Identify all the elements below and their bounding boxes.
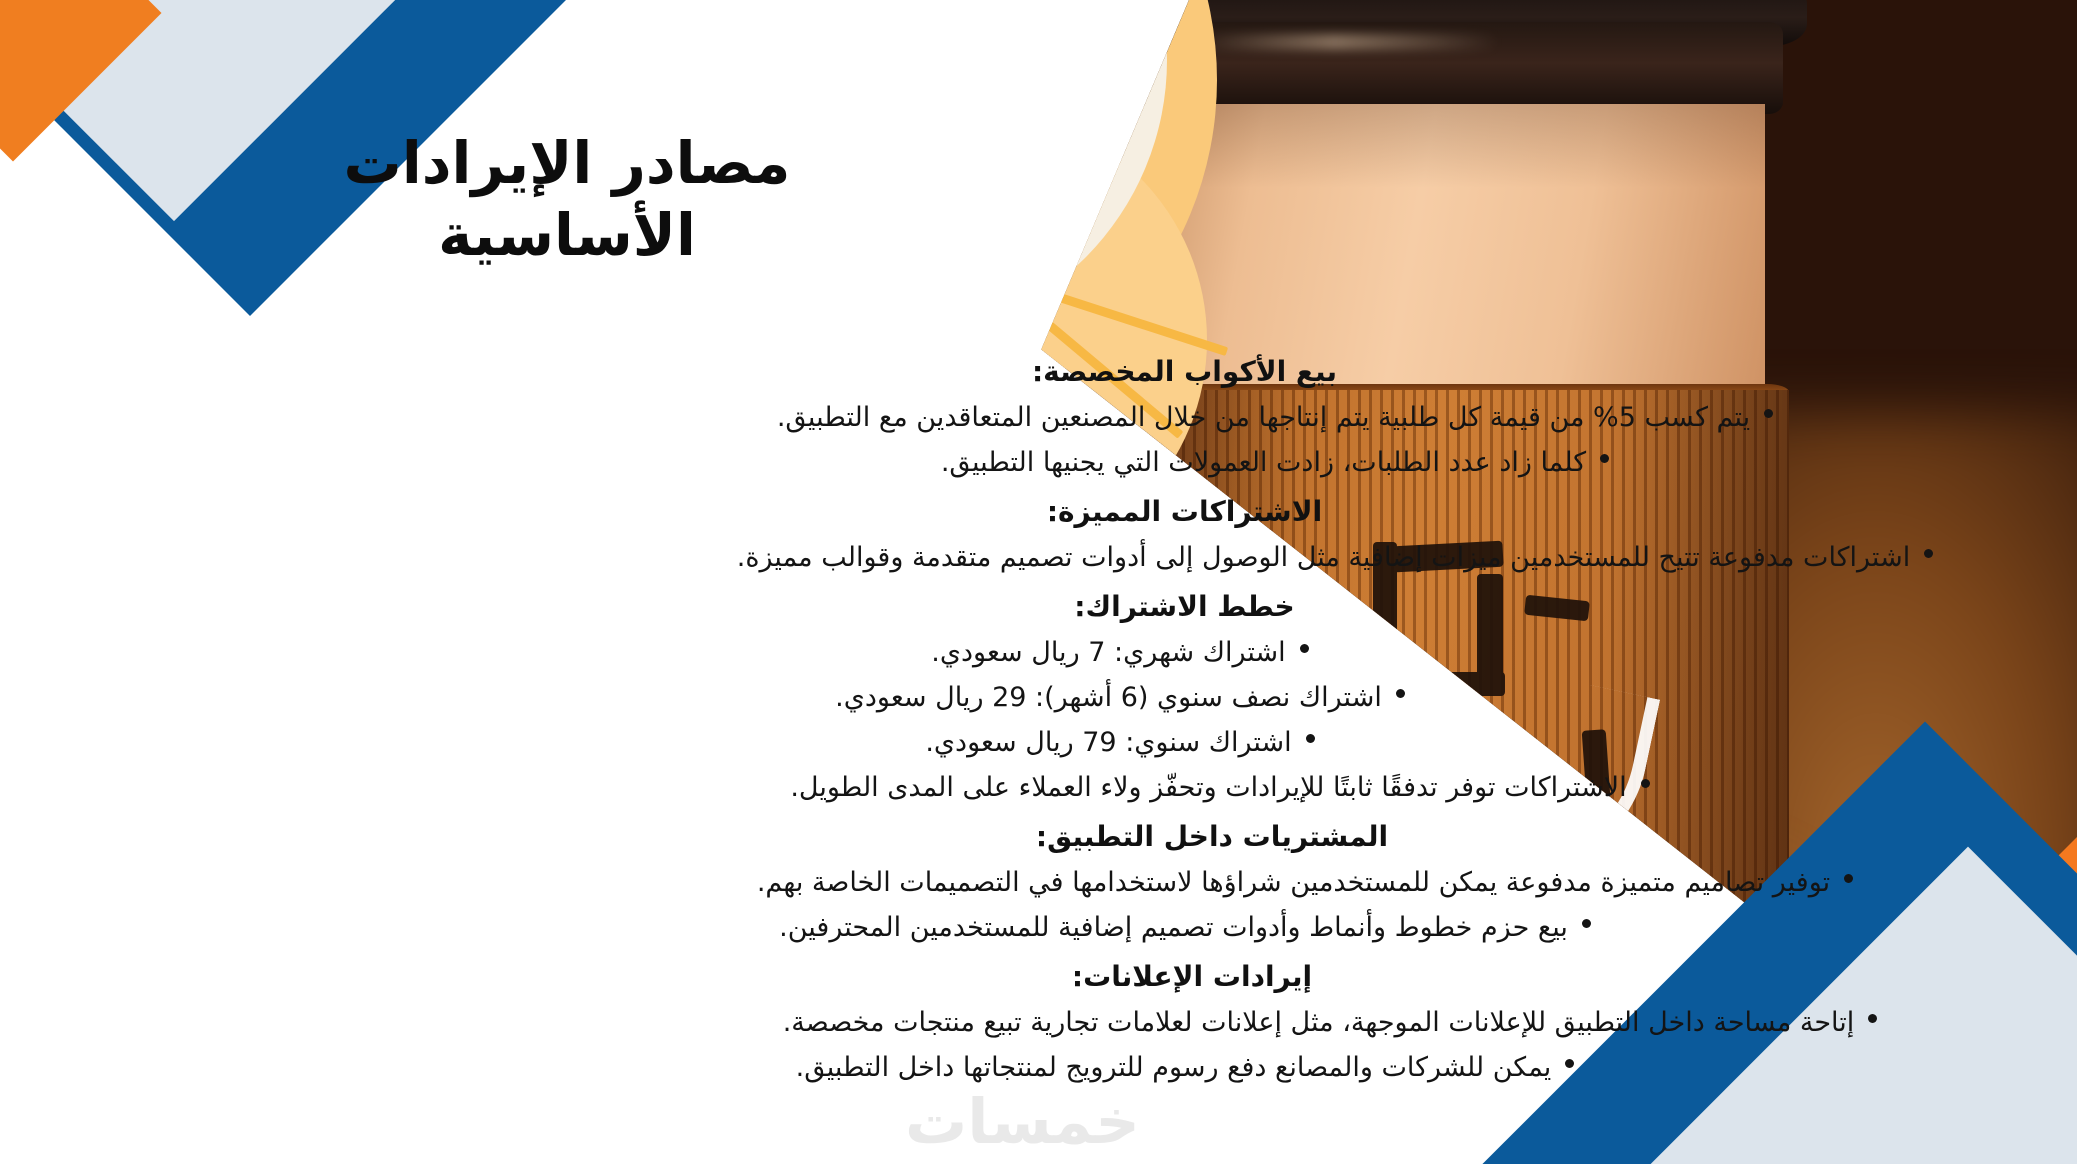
list-item-text: يمكن للشركات والمصانع دفع رسوم للترويج ل… <box>796 1052 1552 1083</box>
section-subscription-plans: خطط الاشتراك: اشتراك شهري: 7 ريال سعودي.… <box>667 586 2047 810</box>
bullet-dot-icon <box>1396 689 1405 698</box>
list-item-text: إتاحة مساحة داخل التطبيق للإعلانات الموج… <box>783 1007 1855 1038</box>
section-in-app-purchases: المشتريات داخل التطبيق: توفير تصاميم متم… <box>667 816 2047 950</box>
list-item: اشتراكات مدفوعة تتيح للمستخدمين ميزات إض… <box>667 535 2047 580</box>
list-item-text: يتم كسب 5% من قيمة كل طلبية يتم إنتاجها … <box>777 402 1750 433</box>
list-item: الاشتراكات توفر تدفقًا ثابتًا للإيرادات … <box>667 765 2047 810</box>
bullet-dot-icon <box>1582 919 1591 928</box>
bullet-dot-icon <box>1641 779 1650 788</box>
list-item-text: اشتراك شهري: 7 ريال سعودي. <box>931 637 1285 668</box>
bullet-list: توفير تصاميم متميزة مدفوعة يمكن للمستخدم… <box>667 860 2047 950</box>
bullet-list: اشتراكات مدفوعة تتيح للمستخدمين ميزات إض… <box>667 535 2047 580</box>
bullet-dot-icon <box>1868 1014 1877 1023</box>
list-item-text: توفير تصاميم متميزة مدفوعة يمكن للمستخدم… <box>757 867 1830 898</box>
list-item: يتم كسب 5% من قيمة كل طلبية يتم إنتاجها … <box>667 395 2047 440</box>
section-heading: بيع الأكواب المخصصة: <box>667 351 2047 393</box>
section-premium-subscriptions: الاشتراكات المميزة: اشتراكات مدفوعة تتيح… <box>667 491 2047 580</box>
bullet-dot-icon <box>1306 734 1315 743</box>
list-item: يمكن للشركات والمصانع دفع رسوم للترويج ل… <box>667 1045 2047 1090</box>
list-item-text: اشتراك نصف سنوي (6 أشهر): 29 ريال سعودي. <box>835 682 1382 713</box>
list-item-text: اشتراكات مدفوعة تتيح للمستخدمين ميزات إض… <box>737 542 1910 573</box>
slide-title: مصادر الإيرادات الأساسية <box>287 128 847 272</box>
section-ad-revenue: إيرادات الإعلانات: إتاحة مساحة داخل التط… <box>667 956 2047 1090</box>
list-item: بيع حزم خطوط وأنماط وأدوات تصميم إضافية … <box>667 905 2047 950</box>
bullet-dot-icon <box>1565 1059 1574 1068</box>
bullet-dot-icon <box>1844 874 1853 883</box>
list-item: توفير تصاميم متميزة مدفوعة يمكن للمستخدم… <box>667 860 2047 905</box>
list-item-text: اشتراك سنوي: 79 ريال سعودي. <box>925 727 1291 758</box>
section-custom-cups: بيع الأكواب المخصصة: يتم كسب 5% من قيمة … <box>667 351 2047 485</box>
bullet-list: إتاحة مساحة داخل التطبيق للإعلانات الموج… <box>667 1000 2047 1090</box>
section-heading: المشتريات داخل التطبيق: <box>667 816 2047 858</box>
mail-envelope-icon <box>818 0 1062 112</box>
list-item: إتاحة مساحة داخل التطبيق للإعلانات الموج… <box>667 1000 2047 1045</box>
list-item: اشتراك نصف سنوي (6 أشهر): 29 ريال سعودي. <box>667 675 2047 720</box>
list-item-text: كلما زاد عدد الطلبات، زادت العمولات التي… <box>941 447 1586 478</box>
bullet-dot-icon <box>1924 549 1933 558</box>
section-heading: الاشتراكات المميزة: <box>667 491 2047 533</box>
bullet-dot-icon <box>1600 454 1609 463</box>
list-item-text: الاشتراكات توفر تدفقًا ثابتًا للإيرادات … <box>790 772 1626 803</box>
list-item: كلما زاد عدد الطلبات، زادت العمولات التي… <box>667 440 2047 485</box>
sunburst-ray <box>741 270 990 314</box>
section-heading: إيرادات الإعلانات: <box>667 956 2047 998</box>
slide-body: بيع الأكواب المخصصة: يتم كسب 5% من قيمة … <box>667 348 2047 1096</box>
list-item-text: بيع حزم خطوط وأنماط وأدوات تصميم إضافية … <box>779 912 1568 943</box>
bullet-dot-icon <box>1764 409 1773 418</box>
bullet-dot-icon <box>1300 644 1309 653</box>
bullet-list: يتم كسب 5% من قيمة كل طلبية يتم إنتاجها … <box>667 395 2047 485</box>
presentation-slide: مصادر الإيرادات الأساسية بيع الأكواب الم… <box>0 0 2077 1164</box>
section-heading: خطط الاشتراك: <box>667 586 2047 628</box>
teal-dot <box>969 252 1013 296</box>
list-item: اشتراك شهري: 7 ريال سعودي. <box>667 630 2047 675</box>
list-item: اشتراك سنوي: 79 ريال سعودي. <box>667 720 2047 765</box>
bullet-list: اشتراك شهري: 7 ريال سعودي. اشتراك نصف سن… <box>667 630 2047 810</box>
